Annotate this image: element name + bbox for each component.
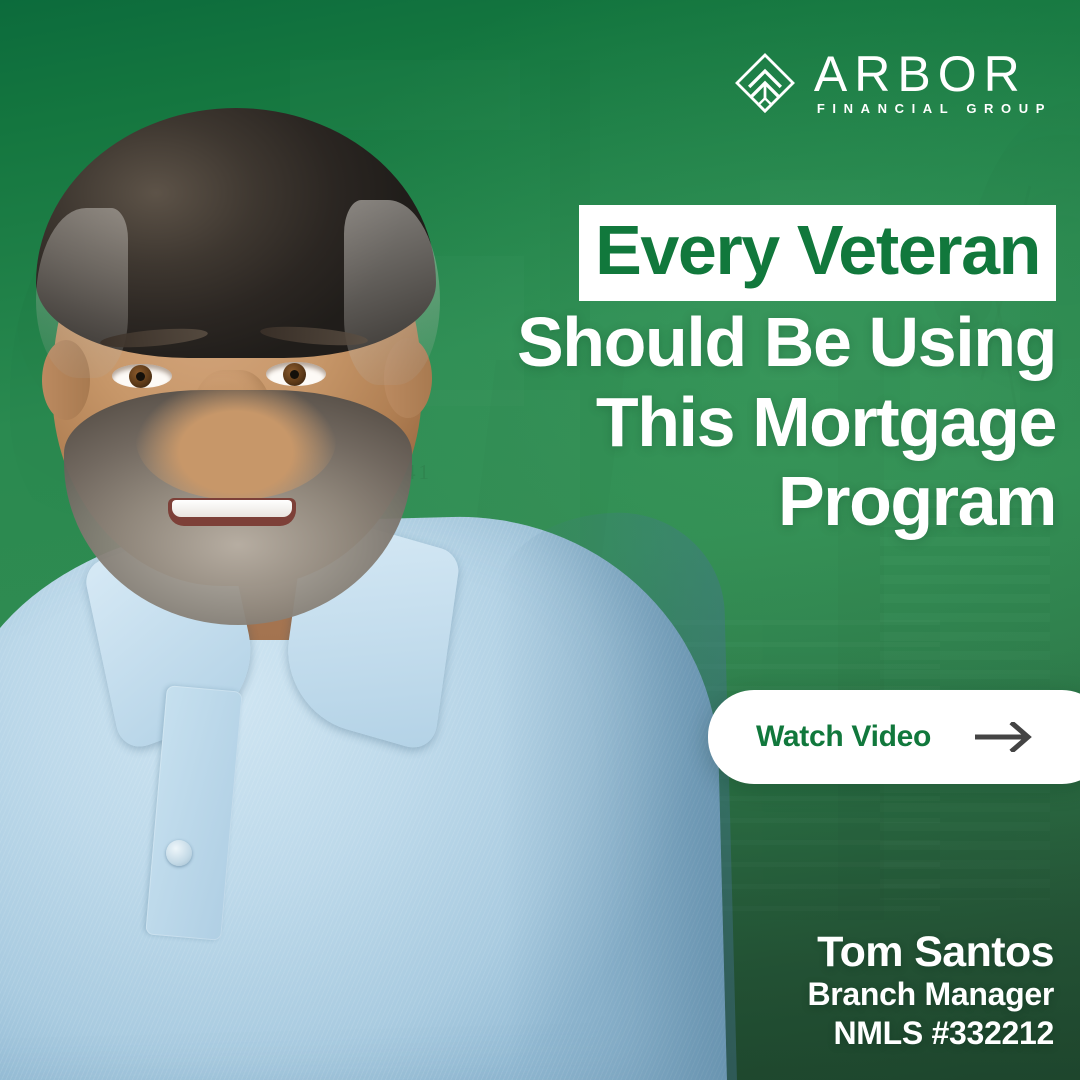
cheek-highlight [136, 380, 336, 500]
headline-line-2: Should Be Using [396, 303, 1056, 383]
brand-tagline: FINANCIAL GROUP [814, 102, 1052, 115]
brand-name: ARBOR [814, 51, 1052, 97]
mouth [168, 498, 296, 526]
pupil-right [290, 370, 299, 379]
headline-line-3: This Mortgage [396, 383, 1056, 463]
agent-nmls-number: NMLS #332212 [807, 1014, 1054, 1052]
headline-line-4: Program [396, 462, 1056, 542]
eye-left [112, 364, 172, 388]
agent-name: Tom Santos [807, 930, 1054, 976]
pupil-left [136, 372, 145, 381]
social-ad-canvas: 3241 [0, 0, 1080, 1080]
iris-right [283, 363, 306, 386]
logo-wordmark: ARBOR FINANCIAL GROUP [814, 51, 1052, 115]
teeth [172, 500, 292, 517]
agent-signature-block: Tom Santos Branch Manager NMLS #332212 [807, 930, 1054, 1052]
agent-role: Branch Manager [807, 975, 1054, 1013]
arrow-right-icon [973, 722, 1037, 752]
eye-right [266, 362, 326, 386]
iris-left [129, 365, 152, 388]
shirt-button [166, 840, 192, 866]
shirt-shadow [492, 510, 738, 1080]
arbor-diamond-chevron-logomark [732, 50, 798, 116]
brand-logo[interactable]: ARBOR FINANCIAL GROUP [732, 50, 1052, 116]
headline-line-1: Every Veteran [579, 205, 1056, 301]
headline: Every Veteran Should Be Using This Mortg… [396, 205, 1056, 542]
watch-video-label: Watch Video [756, 720, 931, 754]
portrait-photo [0, 40, 740, 1080]
watch-video-button[interactable]: Watch Video [708, 690, 1080, 784]
